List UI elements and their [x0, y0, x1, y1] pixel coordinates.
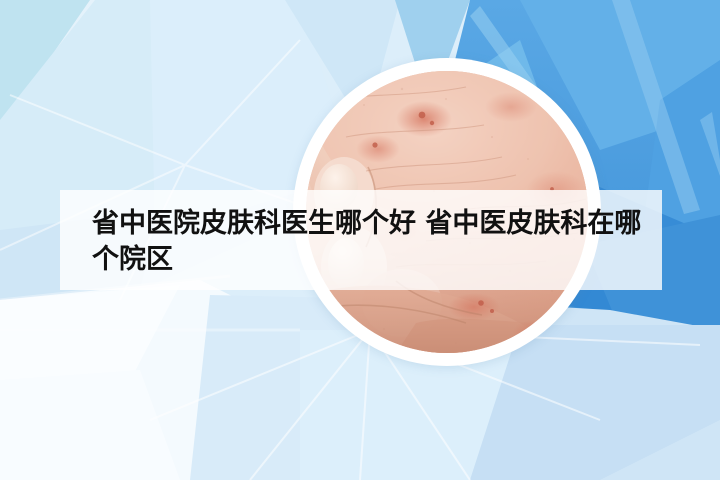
poster-canvas: 省中医院皮肤科医生哪个好 省中医皮肤科在哪个院区: [0, 0, 720, 480]
caption-text: 省中医院皮肤科医生哪个好 省中医皮肤科在哪个院区: [92, 206, 648, 278]
